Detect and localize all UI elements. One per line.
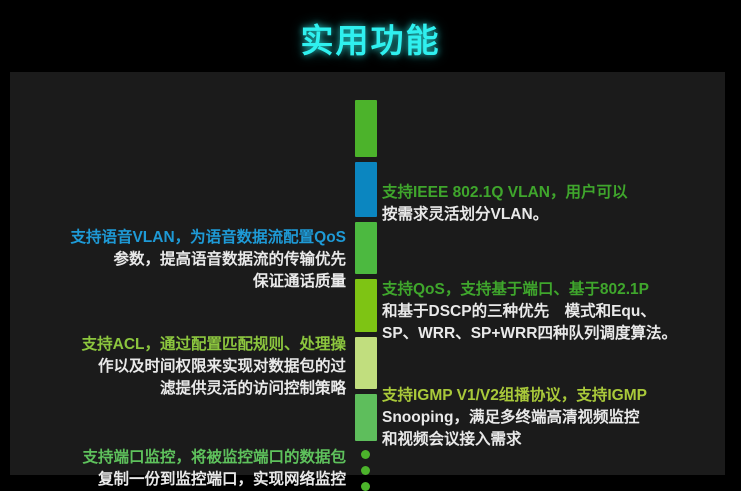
feature-voice-vlan-lead: 支持语音VLAN，为语音数据流配置QoS <box>16 227 346 249</box>
feature-qos: 支持QoS，支持基于端口、基于802.1P和基于DSCP的三种优先 模式和Equ… <box>382 279 722 345</box>
color-bar-dot-1 <box>361 450 370 459</box>
color-bar-segment-3 <box>355 222 377 274</box>
feature-ieee-vlan-lead: 支持IEEE 802.1Q VLAN，用户可以 <box>382 182 722 204</box>
color-bar-dot-2 <box>361 466 370 475</box>
color-bar-segment-2 <box>355 162 377 217</box>
vertical-color-bar <box>355 100 377 475</box>
feature-acl-lead: 支持ACL，通过配置匹配规则、处理操 <box>16 334 346 356</box>
slide-root: 实用功能 支持语音VLAN，为语音数据流配置QoS参数，提高语音数据流的传输优先… <box>0 0 741 475</box>
color-bar-segment-6 <box>355 394 377 441</box>
feature-igmp: 支持IGMP V1/V2组播协议，支持IGMPSnooping，满足多终端高清视… <box>382 385 722 451</box>
feature-ieee-vlan-body: 按需求灵活划分VLAN。 <box>382 204 722 226</box>
feature-igmp-body: Snooping，满足多终端高清视频监控 和视频会议接入需求 <box>382 407 722 451</box>
feature-port-mirroring-lead: 支持端口监控，将被监控端口的数据包 <box>16 447 346 469</box>
content-panel: 支持语音VLAN，为语音数据流配置QoS参数，提高语音数据流的传输优先 保证通话… <box>10 72 725 475</box>
feature-acl: 支持ACL，通过配置匹配规则、处理操作以及时间权限来实现对数据包的过 滤提供灵活… <box>16 334 346 400</box>
title-bar: 实用功能 <box>0 0 741 72</box>
feature-igmp-lead: 支持IGMP V1/V2组播协议，支持IGMP <box>382 385 722 407</box>
feature-port-mirroring-body: 复制一份到监控端口，实现网络监控 <box>16 469 346 491</box>
feature-voice-vlan: 支持语音VLAN，为语音数据流配置QoS参数，提高语音数据流的传输优先 保证通话… <box>16 227 346 293</box>
page-title: 实用功能 <box>0 14 741 62</box>
color-bar-segment-1 <box>355 100 377 157</box>
feature-acl-body: 作以及时间权限来实现对数据包的过 滤提供灵活的访问控制策略 <box>16 356 346 400</box>
feature-port-mirroring: 支持端口监控，将被监控端口的数据包复制一份到监控端口，实现网络监控 <box>16 447 346 491</box>
feature-qos-lead: 支持QoS，支持基于端口、基于802.1P <box>382 279 722 301</box>
color-bar-segment-5 <box>355 337 377 389</box>
feature-voice-vlan-body: 参数，提高语音数据流的传输优先 保证通话质量 <box>16 249 346 293</box>
feature-qos-body: 和基于DSCP的三种优先 模式和Equ、 SP、WRR、SP+WRR四种队列调度… <box>382 301 722 345</box>
feature-ieee-vlan: 支持IEEE 802.1Q VLAN，用户可以按需求灵活划分VLAN。 <box>382 182 722 226</box>
color-bar-dot-3 <box>361 482 370 491</box>
color-bar-segment-4 <box>355 279 377 332</box>
